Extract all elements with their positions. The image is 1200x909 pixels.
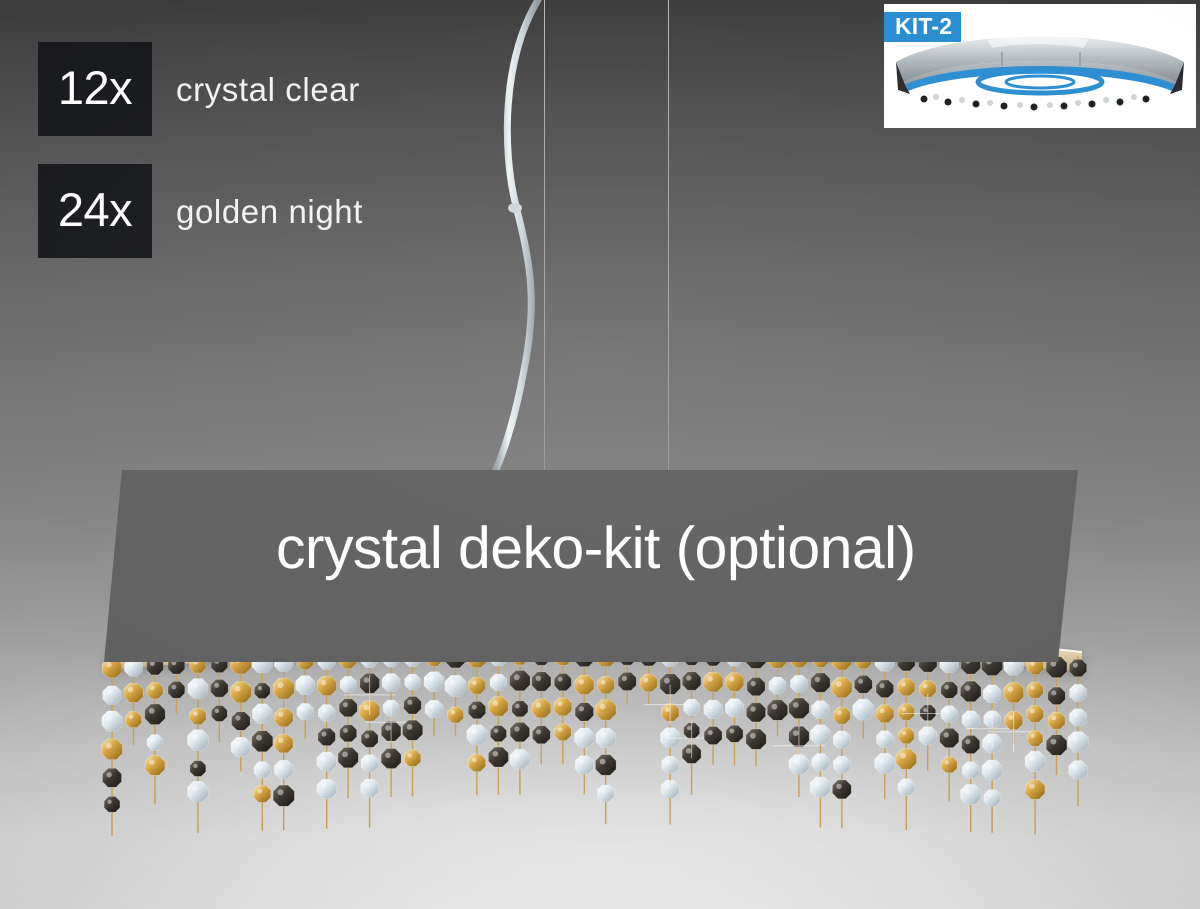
legend-count-value: 24x bbox=[58, 186, 132, 236]
suspension-wire-left bbox=[544, 0, 545, 470]
legend-row-crystal-clear: 12x crystal clear bbox=[38, 42, 360, 136]
overlay-caption: crystal deko-kit (optional) bbox=[276, 519, 916, 578]
legend-row-golden-night: 24x golden night bbox=[38, 164, 363, 258]
legend-label: crystal clear bbox=[176, 73, 360, 106]
suspension-cable-scurve bbox=[480, 0, 600, 480]
inset-kit-badge: KIT-2 bbox=[884, 12, 961, 42]
product-image: crystal deko-kit (optional) 12x crystal … bbox=[0, 0, 1200, 909]
legend-count-badge: 12x bbox=[38, 42, 152, 136]
legend-count-badge: 24x bbox=[38, 164, 152, 258]
suspension-wire-right bbox=[668, 0, 669, 470]
legend-count-value: 12x bbox=[58, 64, 132, 114]
inset-thumbnail: KIT-2 bbox=[884, 4, 1196, 128]
legend-label: golden night bbox=[176, 195, 363, 228]
